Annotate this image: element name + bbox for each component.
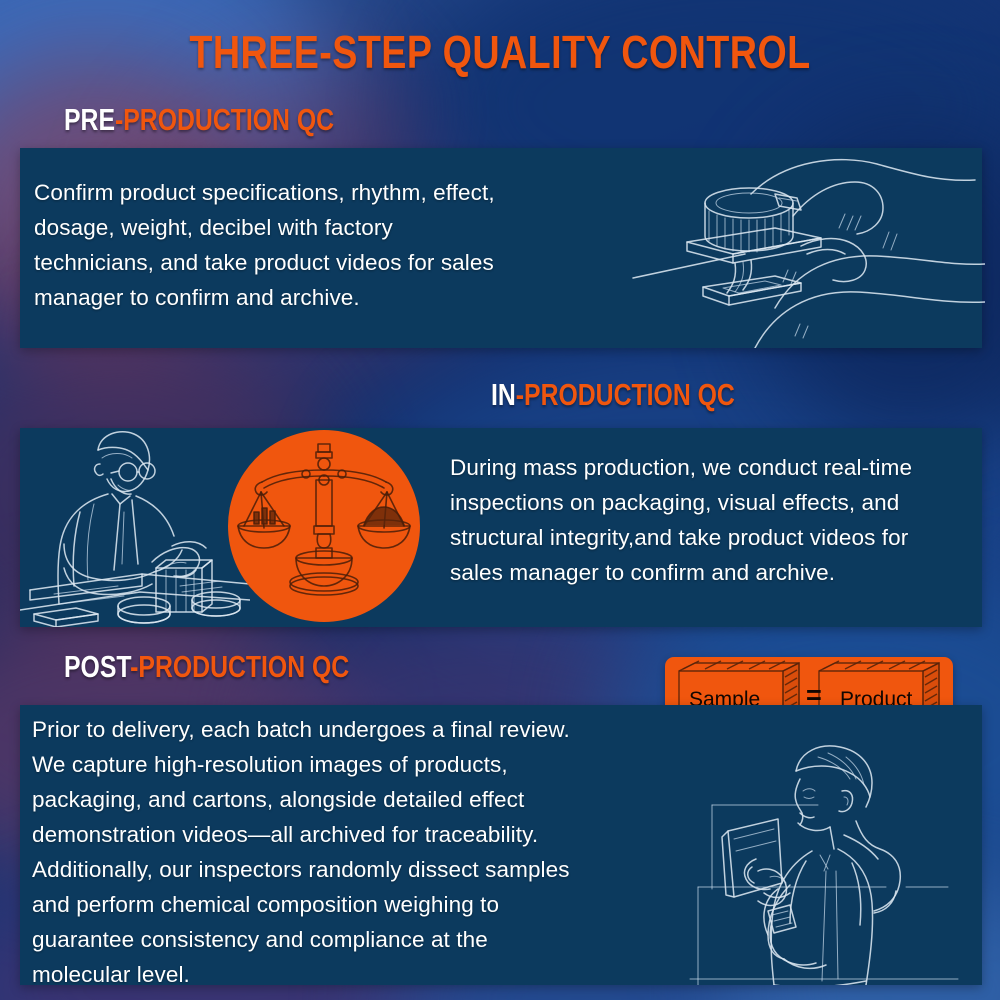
step-heading-post-orange: -PRODUCTION QC [130,649,349,684]
step-heading-post-white: POST [64,649,130,684]
step-heading-pre-production: PRE-PRODUCTION QC [64,103,334,137]
step-heading-pre-orange: -PRODUCTION QC [115,102,334,137]
body-text-post-production: Prior to delivery, each batch undergoes … [32,712,662,992]
page-title: THREE-STEP QUALITY CONTROL [90,26,910,78]
badge-equals-sign: = [806,683,822,707]
body-text-pre-production: Confirm product specifications, rhythm, … [34,175,634,315]
infographic-page: THREE-STEP QUALITY CONTROL PRE-PRODUCTIO… [0,0,1000,1000]
step-heading-post-production: POST-PRODUCTION QC [64,650,349,684]
step-heading-pre-white: PRE [64,102,115,137]
step-heading-in-production: IN-PRODUCTION QC [491,378,735,412]
step-heading-in-orange: -PRODUCTION QC [516,377,735,412]
step-heading-in-white: IN [491,377,516,412]
body-text-in-production: During mass production, we conduct real-… [450,450,985,590]
balance-scale-icon [228,430,420,622]
